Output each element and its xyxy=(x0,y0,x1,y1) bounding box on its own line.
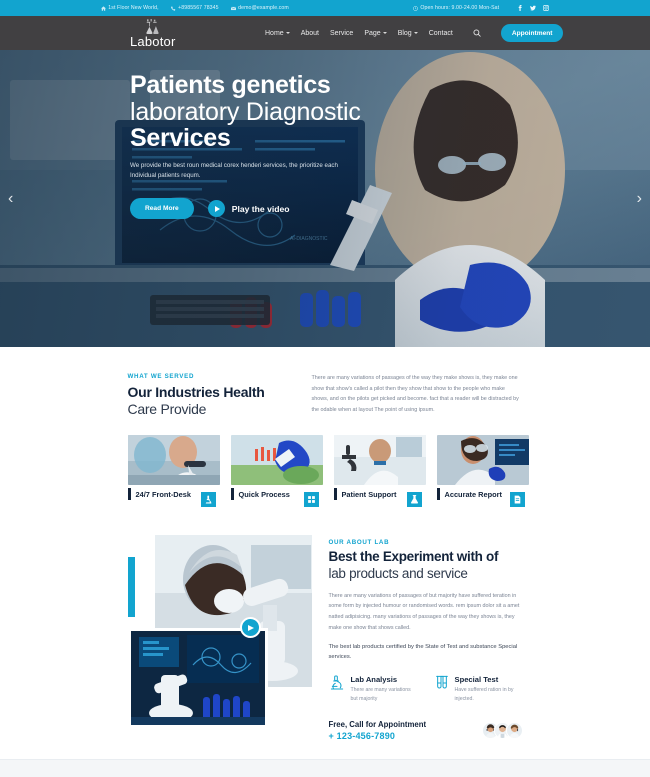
facebook-icon[interactable] xyxy=(517,5,523,11)
topbar-email-label: demo@example.com xyxy=(238,5,289,11)
footer-divider xyxy=(0,759,650,777)
microscope-icon xyxy=(329,675,345,691)
service-card-title: 24/7 Front-Desk xyxy=(136,490,191,499)
about-section: OUR ABOUT LAB Best the Experiment with o… xyxy=(0,535,650,741)
nav-label: Home xyxy=(265,30,284,37)
chevron-down-icon xyxy=(414,32,418,34)
feature-text: There are many variations but majority xyxy=(351,686,417,704)
home-icon xyxy=(101,6,106,11)
top-info-bar: 1st Floor New World, +8985567 78345 demo… xyxy=(0,0,650,16)
main-navbar: Labotor Home About Service Page Blog Con… xyxy=(0,16,650,50)
nav-item-home[interactable]: Home xyxy=(265,30,290,37)
read-more-button[interactable]: Read More xyxy=(130,198,194,219)
topbar-hours-label: Open hours: 9.00-24.00 Mon-Sat xyxy=(420,5,499,11)
call-title: Free, Call for Appointment xyxy=(329,720,427,729)
service-card[interactable]: 24/7 Front-Desk xyxy=(128,435,220,500)
report-badge-icon xyxy=(513,495,522,504)
nav-label: Service xyxy=(330,30,353,37)
about-play-button[interactable] xyxy=(240,617,261,638)
card-accent-bar xyxy=(334,488,337,500)
hero-title: Patients genetics laboratory Diagnostic … xyxy=(130,72,430,152)
about-image-bottom xyxy=(128,628,268,728)
service-card-badge xyxy=(407,492,422,507)
nav-item-contact[interactable]: Contact xyxy=(429,30,453,37)
service-cards: 24/7 Front-Desk Quick Process xyxy=(128,435,523,500)
lab-flask-logo-icon xyxy=(144,19,161,34)
appointment-button[interactable]: Appointment xyxy=(501,24,564,42)
envelope-icon xyxy=(231,6,236,11)
services-title-thin: Care Provide xyxy=(128,401,207,417)
about-call-row: Free, Call for Appointment + 123-456-789… xyxy=(329,720,523,741)
feature-title: Special Test xyxy=(455,675,521,684)
topbar-hours-group: Open hours: 9.00-24.00 Mon-Sat xyxy=(413,5,549,11)
service-card-title: Patient Support xyxy=(342,490,397,499)
slider-next-arrow[interactable]: › xyxy=(637,191,642,207)
service-card[interactable]: Accurate Report xyxy=(437,435,529,500)
topbar-phone[interactable]: +8985567 78345 xyxy=(171,5,219,11)
services-paragraph: There are many variations of passages of… xyxy=(312,373,523,415)
service-card-badge xyxy=(304,492,319,507)
agent-avatar-3 xyxy=(506,722,523,739)
phone-icon xyxy=(171,6,176,11)
nav-label: Page xyxy=(364,30,380,37)
service-card-image xyxy=(437,435,529,485)
feature-title: Lab Analysis xyxy=(351,675,417,684)
hero-paragraph: We provide the best roun medical corex h… xyxy=(130,161,345,183)
brand-name-label: Labotor xyxy=(130,35,176,48)
call-text-block: Free, Call for Appointment + 123-456-789… xyxy=(329,720,427,741)
chevron-down-icon xyxy=(383,32,387,34)
nav-item-service[interactable]: Service xyxy=(330,30,353,37)
about-title: Best the Experiment with of lab products… xyxy=(329,549,523,583)
topbar-phone-label: +8985567 78345 xyxy=(178,5,219,11)
topbar-address: 1st Floor New World, xyxy=(101,5,159,11)
services-header: WHAT WE SERVED Our Industries Health Car… xyxy=(128,373,523,418)
page-root: 1st Floor New World, +8985567 78345 demo… xyxy=(0,0,650,777)
nav-item-about[interactable]: About xyxy=(301,30,319,37)
services-title-bold: Our Industries Health xyxy=(128,384,265,400)
clock-icon xyxy=(413,6,418,11)
feature-text: Have suffered ration in by injected. xyxy=(455,686,521,704)
about-feature: Lab Analysis There are many variations b… xyxy=(329,675,417,704)
services-eyebrow: WHAT WE SERVED xyxy=(128,373,288,380)
services-heading-block: WHAT WE SERVED Our Industries Health Car… xyxy=(128,373,288,418)
service-card-image xyxy=(128,435,220,485)
play-video-button[interactable]: Play the video xyxy=(208,200,290,217)
nav-label: About xyxy=(301,30,319,37)
service-card-badge xyxy=(510,492,525,507)
nav-item-blog[interactable]: Blog xyxy=(398,30,418,37)
services-text-block: There are many variations of passages of… xyxy=(312,373,523,415)
about-paragraph: There are many variations of passages of… xyxy=(329,591,523,633)
search-icon[interactable] xyxy=(473,29,481,37)
about-media xyxy=(128,535,313,730)
instagram-icon[interactable] xyxy=(543,5,549,11)
social-links xyxy=(517,5,549,11)
about-paragraph-secondary: The best lab products certified by the S… xyxy=(329,642,523,662)
hero-content: Patients genetics laboratory Diagnostic … xyxy=(130,72,430,219)
nav-label: Blog xyxy=(398,30,412,37)
service-card-title: Accurate Report xyxy=(445,490,503,499)
brand-logo[interactable]: Labotor xyxy=(130,19,176,48)
play-video-label: Play the video xyxy=(232,204,290,214)
nav-item-page[interactable]: Page xyxy=(364,30,386,37)
hero-title-line3: Services xyxy=(130,124,230,152)
topbar-email[interactable]: demo@example.com xyxy=(231,5,289,11)
about-title-thin: lab products and service xyxy=(329,566,468,581)
about-feature: Special Test Have suffered ration in by … xyxy=(433,675,521,704)
about-features: Lab Analysis There are many variations b… xyxy=(329,675,523,704)
slider-prev-arrow[interactable]: ‹ xyxy=(8,191,13,207)
play-circle-icon xyxy=(208,200,225,217)
services-title: Our Industries Health Care Provide xyxy=(128,384,288,418)
twitter-icon[interactable] xyxy=(530,5,536,11)
topbar-hours: Open hours: 9.00-24.00 Mon-Sat xyxy=(413,5,499,11)
card-accent-bar xyxy=(231,488,234,500)
topbar-contact-group: 1st Floor New World, +8985567 78345 demo… xyxy=(101,5,289,11)
service-card-title: Quick Process xyxy=(239,490,290,499)
services-section: WHAT WE SERVED Our Industries Health Car… xyxy=(0,347,650,500)
hero-title-line1: Patients genetics xyxy=(130,71,331,99)
hero-actions: Read More Play the video xyxy=(130,198,430,219)
service-card-image xyxy=(231,435,323,485)
grid-lab-badge-icon xyxy=(307,495,316,504)
hero-slider: AI-DIAGNOSTIC xyxy=(0,50,650,347)
support-avatars xyxy=(482,722,523,739)
about-accent-bar xyxy=(128,557,135,617)
service-card-badge xyxy=(201,492,216,507)
test-tubes-icon xyxy=(433,675,449,691)
card-accent-bar xyxy=(437,488,440,500)
nav-menu: Home About Service Page Blog Contact App… xyxy=(265,24,563,42)
about-text-block: OUR ABOUT LAB Best the Experiment with o… xyxy=(329,535,523,741)
about-title-bold: Best the Experiment with of xyxy=(329,549,499,564)
hero-title-line2: laboratory Diagnostic xyxy=(130,98,361,126)
service-card[interactable]: Quick Process xyxy=(231,435,323,500)
card-accent-bar xyxy=(128,488,131,500)
topbar-address-label: 1st Floor New World, xyxy=(108,5,158,11)
nav-label: Contact xyxy=(429,30,453,37)
chevron-down-icon xyxy=(286,32,290,34)
microscope-badge-icon xyxy=(204,495,213,504)
flask-badge-icon xyxy=(410,495,419,504)
call-phone-number[interactable]: + 123-456-7890 xyxy=(329,731,427,741)
service-card[interactable]: Patient Support xyxy=(334,435,426,500)
about-eyebrow: OUR ABOUT LAB xyxy=(329,539,523,546)
service-card-image xyxy=(334,435,426,485)
